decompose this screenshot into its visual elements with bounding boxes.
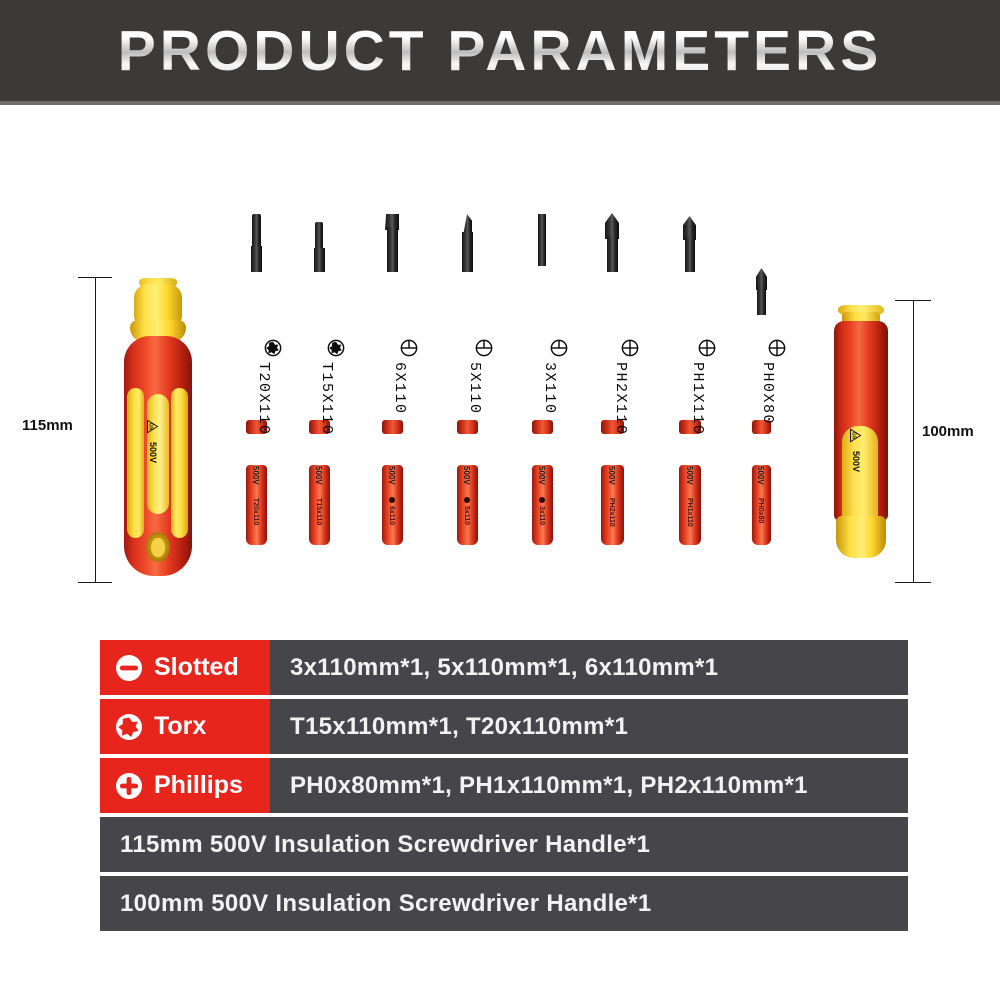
handle-115mm[interactable]: GS 500V <box>110 270 210 600</box>
header-banner: PRODUCT PARAMETERS <box>0 0 1000 101</box>
spec-value-cell-phillips: PH0x80mm*1, PH1x110mm*1, PH2x110mm*1 <box>270 758 908 813</box>
bit-voltage: 500V <box>387 466 396 485</box>
bit-label: T20X110 <box>255 362 272 436</box>
bit-label: 6X110 <box>391 362 408 415</box>
bit-voltage: 500V <box>462 466 471 485</box>
bit-label: PH2X110 <box>612 362 629 436</box>
product-illustration-area: 115mm 100mm GS 500V GS <box>0 105 1000 630</box>
handle-115mm-hanging-hole-inner <box>151 538 165 557</box>
phillips-icon <box>768 339 786 357</box>
handle-100mm-voltage: 500V <box>851 451 861 472</box>
spec-value-text: PH0x80mm*1, PH1x110mm*1, PH2x110mm*1 <box>290 772 808 800</box>
slotted-bit-shank <box>387 227 398 272</box>
bit-collar <box>533 430 552 470</box>
slotted-icon <box>550 339 568 357</box>
bit-voltage: 500V <box>756 466 765 485</box>
bit-shaft-text: T15x110 <box>315 498 322 525</box>
spec-label-cell-torx: Torx <box>100 699 270 754</box>
table-row: 100mm 500V Insulation Screwdriver Handle… <box>100 876 908 931</box>
svg-text:GS: GS <box>850 432 856 440</box>
bit-voltage: 500V <box>685 466 694 485</box>
gs-certification-icon: GS <box>146 419 159 434</box>
bit-collar <box>247 430 266 470</box>
spec-full-text: 100mm 500V Insulation Screwdriver Handle… <box>120 890 652 918</box>
slotted-bit-shank <box>462 232 473 272</box>
handle-115mm-grip-left <box>127 388 144 538</box>
spec-value-cell-torx: T15x110mm*1, T20x110mm*1 <box>270 699 908 754</box>
bit-shaft-text: PH0x80 <box>757 498 764 523</box>
torx-icon <box>114 712 144 742</box>
phillips-bit-shank <box>607 236 618 272</box>
table-row: 115mm 500V Insulation Screwdriver Handle… <box>100 817 908 872</box>
torx-icon <box>264 339 282 357</box>
spec-value-text: T15x110mm*1, T20x110mm*1 <box>290 713 628 741</box>
torx-bit-tip <box>315 222 323 250</box>
dimension-right-label: 100mm <box>922 423 974 440</box>
spec-full-text: 115mm 500V Insulation Screwdriver Handle… <box>120 831 650 859</box>
bit-marker-dot <box>539 497 545 503</box>
bit-collar <box>602 430 623 470</box>
bit-collar <box>458 430 477 470</box>
spec-label-text: Slotted <box>154 653 239 682</box>
bit-shaft-text: T20x110 <box>252 498 259 525</box>
gs-certification-icon: GS <box>849 428 862 443</box>
bit-marker-dot <box>389 497 395 503</box>
table-row: Slotted 3x110mm*1, 5x110mm*1, 6x110mm*1 <box>100 640 908 695</box>
torx-icon <box>327 339 345 357</box>
bit-shaft-text: PH2x110 <box>608 498 615 527</box>
spec-table: Slotted 3x110mm*1, 5x110mm*1, 6x110mm*1 … <box>100 640 908 935</box>
bit-collar <box>680 430 700 470</box>
phillips-bit-shank <box>685 237 695 272</box>
bit-collar <box>310 430 329 470</box>
bit-voltage: 500V <box>251 466 260 485</box>
bit-shaft-text: 5x110 <box>463 506 470 525</box>
bit-voltage: 500V <box>314 466 323 485</box>
spec-value-text: 3x110mm*1, 5x110mm*1, 6x110mm*1 <box>290 654 718 682</box>
handle-115mm-grip-right <box>171 388 188 538</box>
page-title: PRODUCT PARAMETERS <box>118 18 882 84</box>
bit-shaft-text: PH1x110 <box>686 498 693 527</box>
phillips-icon <box>114 771 144 801</box>
slotted-icon <box>114 653 144 683</box>
handle-100mm[interactable]: GS 500V <box>820 301 910 591</box>
bit-label: 5X110 <box>466 362 483 415</box>
spec-label-text: Torx <box>154 712 206 741</box>
phillips-icon <box>621 339 639 357</box>
bit-marker-dot <box>464 497 470 503</box>
bit-label: PH1X110 <box>689 362 706 436</box>
handle-100mm-foot <box>832 549 890 565</box>
bit-label: 3X110 <box>541 362 558 415</box>
slotted-bit-tip <box>538 214 546 266</box>
table-row: Torx T15x110mm*1, T20x110mm*1 <box>100 699 908 754</box>
slotted-icon <box>400 339 418 357</box>
bit-voltage: 500V <box>607 466 616 485</box>
phillips-icon <box>698 339 716 357</box>
bit-collar <box>383 430 402 470</box>
bit-collar <box>753 430 770 470</box>
bit-label: PH0X80 <box>759 362 776 425</box>
dimension-left-label: 115mm <box>22 417 73 434</box>
handle-115mm-voltage: 500V <box>148 442 158 463</box>
spec-value-cell-slotted: 3x110mm*1, 5x110mm*1, 6x110mm*1 <box>270 640 908 695</box>
svg-text:GS: GS <box>147 423 153 431</box>
spec-label-text: Phillips <box>154 771 243 800</box>
bit-label: T15X110 <box>318 362 335 436</box>
slotted-icon <box>475 339 493 357</box>
bit-voltage: 500V <box>537 466 546 485</box>
bit-shaft-text: 6x110 <box>388 506 395 525</box>
torx-bit-tip <box>252 214 261 248</box>
bit-shaft-text: 3x110 <box>538 506 545 525</box>
spec-label-cell-slotted: Slotted <box>100 640 270 695</box>
spec-label-cell-phillips: Phillips <box>100 758 270 813</box>
table-row: Phillips PH0x80mm*1, PH1x110mm*1, PH2x11… <box>100 758 908 813</box>
